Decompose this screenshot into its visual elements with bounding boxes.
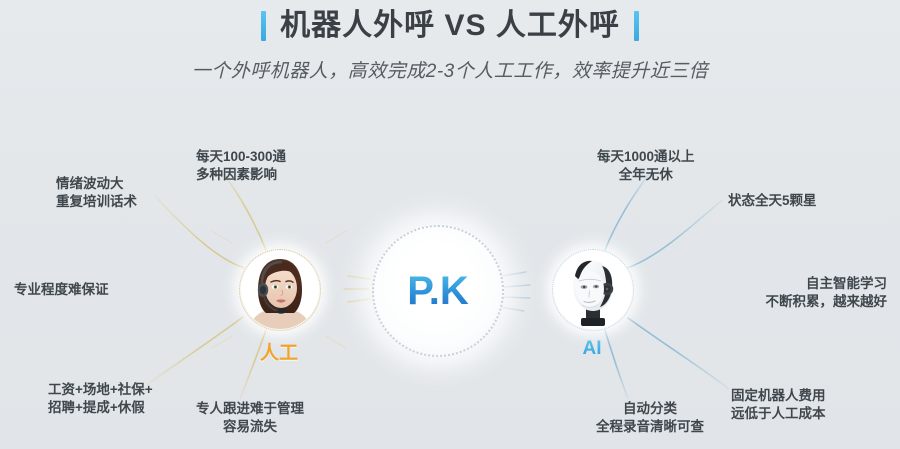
label-ai-cost: 固定机器人费用 远低于人工成本 [731, 387, 826, 423]
label-human-emotion: 情绪波动大 重复培训话术 [56, 175, 137, 211]
pk-ray-right-4 [500, 307, 524, 311]
pk-ray-left-1 [348, 276, 370, 279]
pk-ray-right-1 [502, 272, 526, 276]
label-human-cost: 工资+场地+社保+ 招聘+提成+休假 [48, 381, 153, 417]
connector-ai-calls [605, 173, 650, 250]
label-human-expertise-line1: 专业程度难保证 [14, 281, 109, 299]
label-ai-calls-line2: 全年无休 [597, 166, 695, 184]
label-human-calls-line2: 多种因素影响 [196, 166, 286, 184]
label-ai-status-line1: 状态全天5颗星 [728, 192, 817, 210]
label-ai-learning-line1: 自主智能学习 [672, 275, 887, 293]
infographic-canvas: 机器人外呼 VS 人工外呼 一个外呼机器人，高效完成2-3个人工工作，效率提升近… [0, 0, 900, 449]
page-subtitle: 一个外呼机器人，高效完成2-3个人工工作，效率提升近三倍 [0, 56, 900, 83]
label-ai-recording: 自动分类 全程录音清晰可查 [596, 400, 704, 436]
human-glow-ray-2 [212, 336, 232, 348]
label-ai-learning-line2: 不断积累，越来越好 [672, 293, 887, 311]
human-glow-ray-3 [326, 231, 346, 243]
pk-ray-left-3 [348, 299, 370, 302]
human-avatar[interactable] [239, 249, 321, 331]
label-human-cost-line1: 工资+场地+社保+ [48, 381, 153, 399]
connector-human-emotion [155, 196, 244, 268]
label-human-cost-line2: 招聘+提成+休假 [48, 399, 153, 417]
connector-ai-cost [628, 318, 728, 388]
label-human-expertise: 专业程度难保证 [14, 281, 109, 299]
label-human-calls-line1: 每天100-300通 [196, 148, 286, 166]
ai-caption: AI [552, 338, 632, 360]
human-agent-headset-icon [240, 250, 320, 330]
label-ai-cost-line2: 远低于人工成本 [731, 405, 826, 423]
connector-human-cost [148, 317, 243, 384]
human-caption: 人工 [239, 338, 319, 365]
pk-ray-right-2 [504, 285, 530, 287]
ai-avatar[interactable] [552, 249, 634, 331]
label-human-management-line2: 容易流失 [196, 418, 304, 436]
label-ai-recording-line1: 自动分类 [596, 400, 704, 418]
label-ai-calls-line1: 每天1000通以上 [597, 148, 695, 166]
title-text: 机器人外呼 VS 人工外呼 [280, 9, 620, 43]
ai-robot-head-icon [553, 250, 633, 330]
title-accent-bar-right [634, 11, 639, 41]
label-ai-recording-line2: 全程录音清晰可查 [596, 418, 704, 436]
label-human-management: 专人跟进难于管理 容易流失 [196, 400, 304, 436]
human-glow-ray-1 [212, 231, 232, 243]
connector-ai-status [627, 200, 722, 268]
label-human-emotion-line1: 情绪波动大 [56, 175, 137, 193]
label-ai-learning: 自主智能学习 不断积累，越来越好 [672, 275, 887, 311]
label-human-calls: 每天100-300通 多种因素影响 [196, 148, 286, 184]
label-human-management-line1: 专人跟进难于管理 [196, 400, 304, 418]
label-ai-status: 状态全天5颗星 [728, 192, 817, 210]
title-accent-bar-left [261, 11, 266, 41]
pk-center-node: P.K [372, 225, 504, 357]
pk-label: P.K [407, 269, 469, 313]
human-glow-ray-4 [326, 336, 346, 348]
pk-ray-right-3 [504, 297, 530, 298]
page-title: 机器人外呼 VS 人工外呼 [0, 9, 900, 43]
label-ai-cost-line1: 固定机器人费用 [731, 387, 826, 405]
label-ai-calls: 每天1000通以上 全年无休 [597, 148, 695, 184]
label-human-emotion-line2: 重复培训话术 [56, 193, 137, 211]
